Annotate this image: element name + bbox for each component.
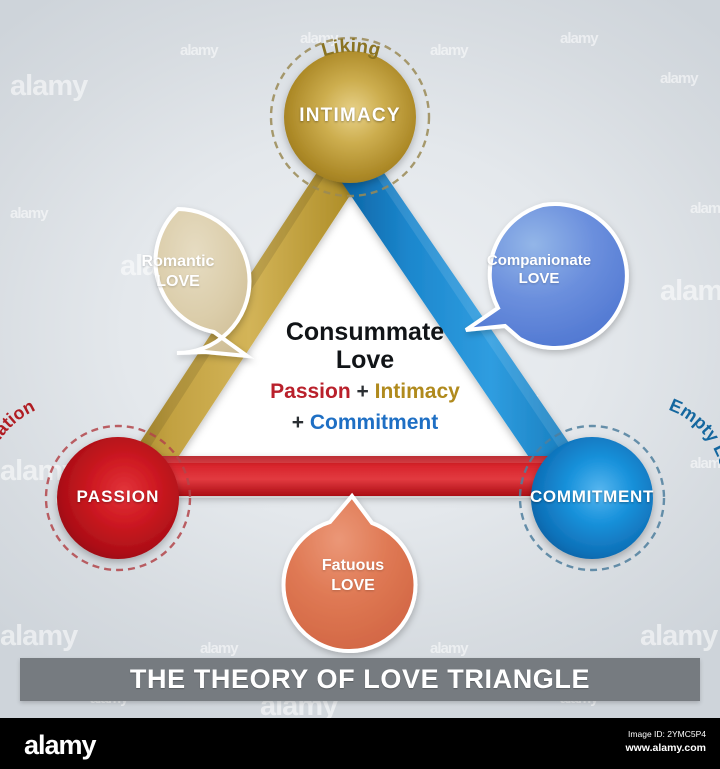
diagram-graphics: Liking Infatuation Empty Love [0, 0, 720, 718]
alamy-logo: alamy [24, 730, 96, 761]
node-commitment[interactable] [531, 437, 653, 559]
page-title: THE THEORY OF LOVE TRIANGLE [130, 664, 590, 695]
image-id: Image ID: 2YMC5P4 [625, 728, 706, 741]
edge-passion-commitment [110, 456, 602, 496]
node-passion[interactable] [57, 437, 179, 559]
node-intimacy[interactable] [284, 51, 416, 183]
bubble-companionate-love [466, 204, 627, 348]
love-triangle-infographic: alamyalamyalamyalamyalamyalamyalamyalamy… [0, 0, 720, 769]
arc-label-infatuation: Infatuation [0, 396, 38, 483]
arc-label-empty-love: Empty Love [666, 395, 720, 488]
alamy-footer: alamy Image ID: 2YMC5P4 www.alamy.com [0, 718, 720, 769]
alamy-url[interactable]: www.alamy.com [625, 741, 706, 755]
bubble-fatuous-love [284, 496, 416, 651]
diagram-canvas: alamyalamyalamyalamyalamyalamyalamyalamy… [0, 0, 720, 718]
footer-meta: Image ID: 2YMC5P4 www.alamy.com [625, 728, 706, 755]
diagram-title-bar: THE THEORY OF LOVE TRIANGLE [20, 658, 700, 701]
